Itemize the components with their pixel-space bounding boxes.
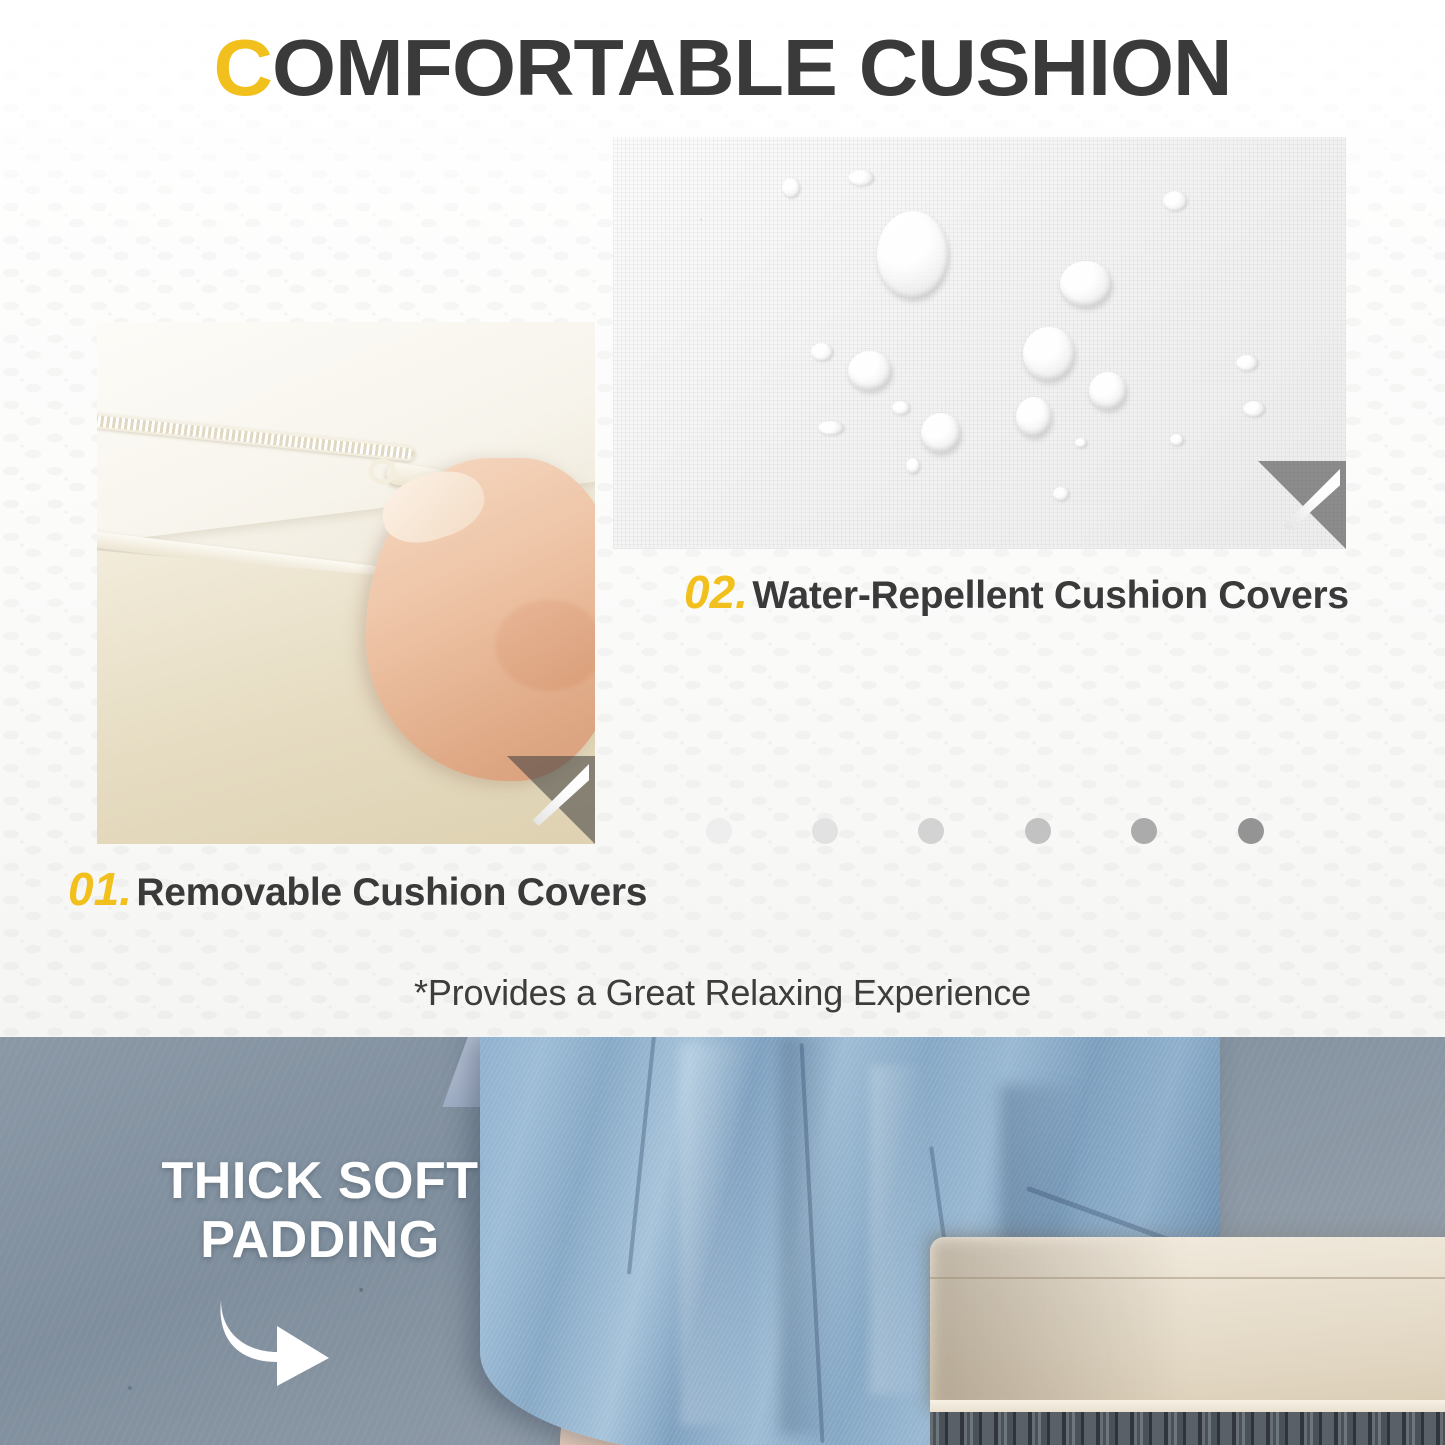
water-droplet — [1243, 401, 1265, 417]
water-droplet — [877, 211, 949, 299]
water-droplet — [782, 178, 800, 198]
dot — [706, 818, 732, 844]
dot — [812, 818, 838, 844]
page-title: COMFORTABLE CUSHION — [0, 22, 1445, 114]
denim-highlight — [680, 1045, 750, 1425]
rattan-gloss — [930, 1412, 1445, 1445]
feature-caption-01: 01. Removable Cushion Covers — [68, 862, 647, 916]
denim-shadow — [780, 1037, 835, 1435]
water-droplet — [848, 170, 874, 186]
banner-line-1: THICK SOFT — [110, 1152, 530, 1211]
banner-line-2: PADDING — [110, 1211, 530, 1270]
dot — [1131, 818, 1157, 844]
water-droplet — [892, 401, 910, 415]
fabric-weave-texture — [613, 137, 1346, 549]
knuckle — [495, 600, 595, 691]
water-droplet — [1089, 372, 1127, 410]
feature-label-01: Removable Cushion Covers — [136, 871, 647, 914]
seat-cushion — [930, 1237, 1445, 1412]
cushion-seam — [930, 1277, 1445, 1279]
water-droplet — [1170, 434, 1184, 446]
decorative-dots — [0, 818, 1445, 848]
banner-headline: THICK SOFT PADDING — [110, 1152, 530, 1270]
cushion-edge — [930, 1400, 1445, 1412]
rattan-weave-base — [930, 1412, 1445, 1445]
title-rest: OMFORTABLE CUSHION — [272, 23, 1232, 112]
water-droplet — [1016, 397, 1052, 437]
features-section: COMFORTABLE CUSHION — [0, 0, 1445, 1037]
feature-number-01: 01. — [68, 863, 132, 915]
title-highlight-letter: C — [213, 23, 271, 112]
water-droplet — [1053, 487, 1069, 501]
feature-number-02: 02. — [684, 566, 748, 618]
feature-caption-02: 02. Water-Repellent Cushion Covers — [684, 565, 1349, 619]
water-droplet — [1163, 191, 1187, 211]
denim-highlight — [870, 1065, 930, 1395]
removable-cover-photo — [97, 322, 595, 844]
dot — [918, 818, 944, 844]
water-droplet — [1060, 261, 1112, 307]
curved-right-arrow-icon — [215, 1292, 335, 1388]
water-droplet — [1023, 327, 1075, 381]
footnote-text: *Provides a Great Relaxing Experience — [0, 972, 1445, 1014]
dot — [1025, 818, 1051, 844]
water-droplet — [1075, 438, 1087, 448]
cushion-shadow — [930, 1237, 1182, 1412]
dot — [1238, 818, 1264, 844]
water-droplet — [811, 343, 833, 361]
feature-label-02: Water-Repellent Cushion Covers — [752, 574, 1348, 617]
water-repellent-photo — [613, 137, 1346, 549]
page-curl-icon — [1258, 461, 1346, 549]
water-droplet — [848, 351, 892, 391]
water-droplet — [921, 413, 961, 453]
